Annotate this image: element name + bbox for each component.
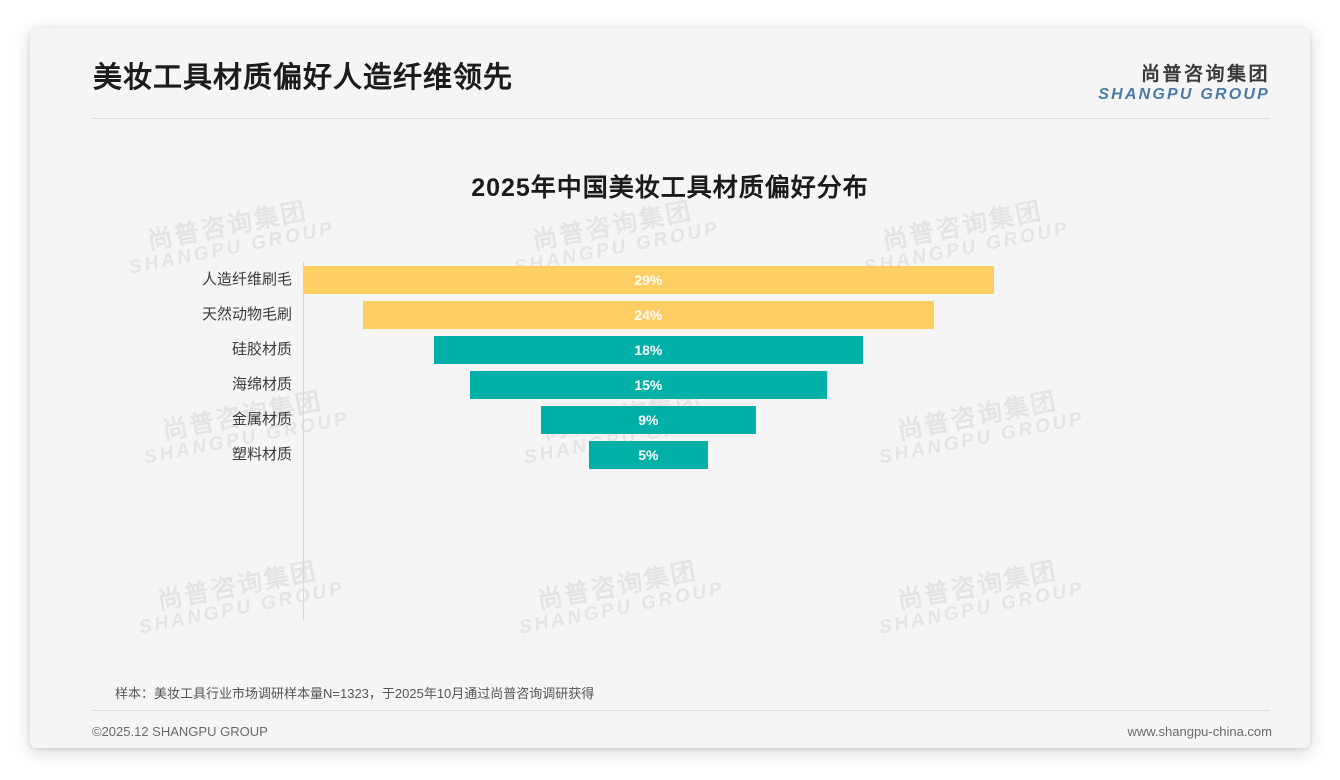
chart-row: 金属材质9% [30, 402, 1310, 437]
copyright-text: ©2025.12 SHANGPU GROUP [92, 724, 268, 739]
category-label: 金属材质 [30, 402, 292, 437]
funnel-chart: 人造纤维刷毛29%天然动物毛刷24%硅胶材质18%海绵材质15%金属材质9%塑料… [30, 243, 1310, 643]
brand-logo: 尚普咨询集团 SHANGPU GROUP [1098, 64, 1270, 104]
brand-logo-en: SHANGPU GROUP [1098, 86, 1270, 104]
bar-value-label: 5% [589, 441, 708, 469]
category-label: 天然动物毛刷 [30, 297, 292, 332]
bar-value-label: 29% [303, 266, 994, 294]
chart-row: 硅胶材质18% [30, 332, 1310, 367]
bar-value-label: 24% [363, 301, 935, 329]
screenshot-root: 尚普咨询集团 SHANGPU GROUP 尚普咨询集团 SHANGPU GROU… [0, 0, 1340, 780]
chart-title: 2025年中国美妆工具材质偏好分布 [30, 168, 1310, 204]
category-label: 塑料材质 [30, 437, 292, 472]
brand-logo-cn: 尚普咨询集团 [1098, 64, 1270, 86]
slide-footer: ©2025.12 SHANGPU GROUP www.shangpu-china… [30, 718, 1310, 748]
category-label: 硅胶材质 [30, 332, 292, 367]
bar-value-label: 15% [470, 371, 827, 399]
bar-value-label: 9% [541, 406, 755, 434]
header-divider [93, 118, 1270, 119]
slide-card: 尚普咨询集团 SHANGPU GROUP 尚普咨询集团 SHANGPU GROU… [30, 28, 1310, 748]
chart-row: 塑料材质5% [30, 437, 1310, 472]
chart-row: 海绵材质15% [30, 367, 1310, 402]
chart-rows: 人造纤维刷毛29%天然动物毛刷24%硅胶材质18%海绵材质15%金属材质9%塑料… [30, 262, 1310, 472]
chart-row: 天然动物毛刷24% [30, 297, 1310, 332]
bar-value-label: 18% [434, 336, 863, 364]
category-label: 人造纤维刷毛 [30, 262, 292, 297]
chart-footnote: 样本：美妆工具行业市场调研样本量N=1323，于2025年10月通过尚普咨询调研… [115, 683, 594, 702]
chart-row: 人造纤维刷毛29% [30, 262, 1310, 297]
category-label: 海绵材质 [30, 367, 292, 402]
website-link[interactable]: www.shangpu-china.com [1127, 724, 1272, 739]
footnote-divider [93, 710, 1270, 711]
slide-header: 美妆工具材质偏好人造纤维领先 尚普咨询集团 SHANGPU GROUP [30, 28, 1310, 119]
page-title: 美妆工具材质偏好人造纤维领先 [93, 54, 513, 96]
